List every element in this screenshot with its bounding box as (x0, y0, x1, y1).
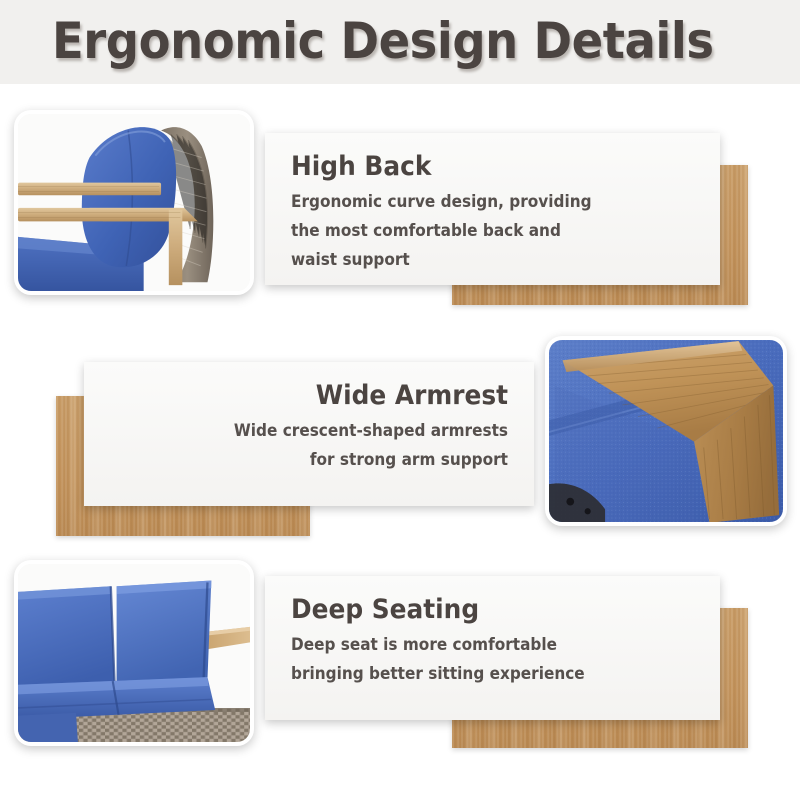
high-back-cushion-illustration (18, 114, 250, 291)
feature-image-high-back-inner (18, 114, 250, 291)
deep-seating-illustration (18, 564, 250, 742)
feature-image-high-back (14, 110, 254, 295)
feature-image-wide-armrest (545, 336, 787, 526)
feature-card-high-back: High Back Ergonomic curve design, provid… (265, 133, 720, 285)
feature-description-line: Deep seat is more comfortable (291, 631, 654, 660)
feature-description-line: for strong arm support (150, 446, 508, 475)
feature-description-line: Ergonomic curve design, providing (291, 188, 654, 217)
feature-description-line: waist support (291, 246, 654, 275)
feature-description-high-back: Ergonomic curve design, providing the mo… (291, 188, 654, 275)
feature-description-line: bringing better sitting experience (291, 660, 654, 689)
page-title: Ergonomic Design Details (52, 8, 714, 74)
feature-card-deep-seating: Deep Seating Deep seat is more comfortab… (265, 576, 720, 720)
feature-image-deep-seating-inner (18, 564, 250, 742)
feature-description-deep-seating: Deep seat is more comfortable bringing b… (291, 631, 654, 689)
feature-image-wide-armrest-inner (549, 340, 783, 522)
feature-title-high-back: High Back (291, 149, 662, 185)
feature-image-deep-seating (14, 560, 254, 746)
feature-description-line: Wide crescent-shaped armrests (150, 417, 508, 446)
feature-title-deep-seating: Deep Seating (291, 592, 662, 628)
feature-description-line: the most comfortable back and (291, 217, 654, 246)
feature-card-wide-armrest: Wide Armrest Wide crescent-shaped armres… (84, 362, 534, 506)
wide-armrest-illustration (549, 340, 783, 522)
feature-description-wide-armrest: Wide crescent-shaped armrests for strong… (150, 417, 508, 475)
feature-title-wide-armrest: Wide Armrest (142, 378, 508, 414)
